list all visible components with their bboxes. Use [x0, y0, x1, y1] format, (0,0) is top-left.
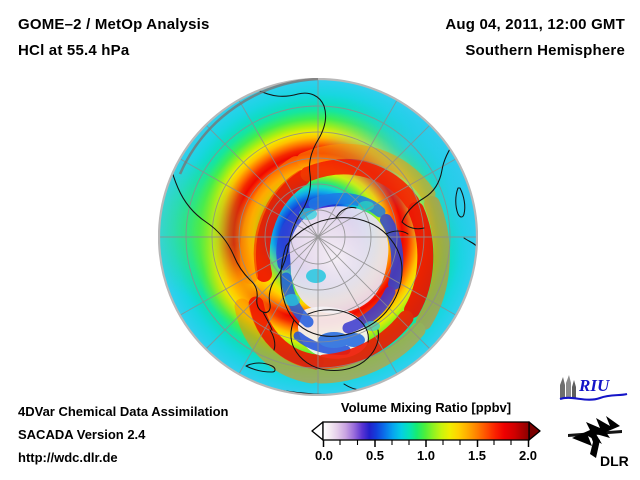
colorbar-scale — [306, 419, 546, 449]
region-label: Southern Hemisphere — [465, 42, 625, 59]
colorbar-over-arrow — [529, 422, 540, 440]
dlr-logo: DLR — [566, 414, 630, 470]
colorbar-tick-label-3: 1.5 — [468, 448, 486, 463]
page-title: GOME–2 / MetOp Analysis — [18, 16, 210, 33]
colorbar-tick-label-4: 2.0 — [519, 448, 537, 463]
method-label: 4DVar Chemical Data Assimilation — [18, 404, 229, 419]
timestamp-label: Aug 04, 2011, 12:00 GMT — [445, 16, 625, 33]
riu-logo: RIU — [556, 374, 630, 404]
dlr-bird-icon — [568, 416, 622, 458]
riu-tower-icon — [560, 375, 576, 398]
colorbar-tick-label-2: 1.0 — [417, 448, 435, 463]
colorbar-tick-label-1: 0.5 — [366, 448, 384, 463]
globe-plot — [158, 78, 478, 396]
polar-stereographic-map — [158, 78, 478, 396]
colorbar-tick-label-0: 0.0 — [315, 448, 333, 463]
website-url[interactable]: http://wdc.dlr.de — [18, 450, 118, 465]
colorbar: Volume Mixing Ratio [ppbv] — [306, 400, 546, 472]
colorbar-ticks — [324, 440, 529, 447]
version-label: SACADA Version 2.4 — [18, 427, 145, 442]
colorbar-under-arrow — [312, 422, 323, 440]
page-subtitle: HCl at 55.4 hPa — [18, 42, 129, 59]
colorbar-title: Volume Mixing Ratio [ppbv] — [306, 400, 546, 415]
riu-logo-text: RIU — [578, 376, 610, 395]
dlr-logo-text: DLR — [600, 453, 629, 469]
colorbar-gradient — [323, 422, 529, 440]
